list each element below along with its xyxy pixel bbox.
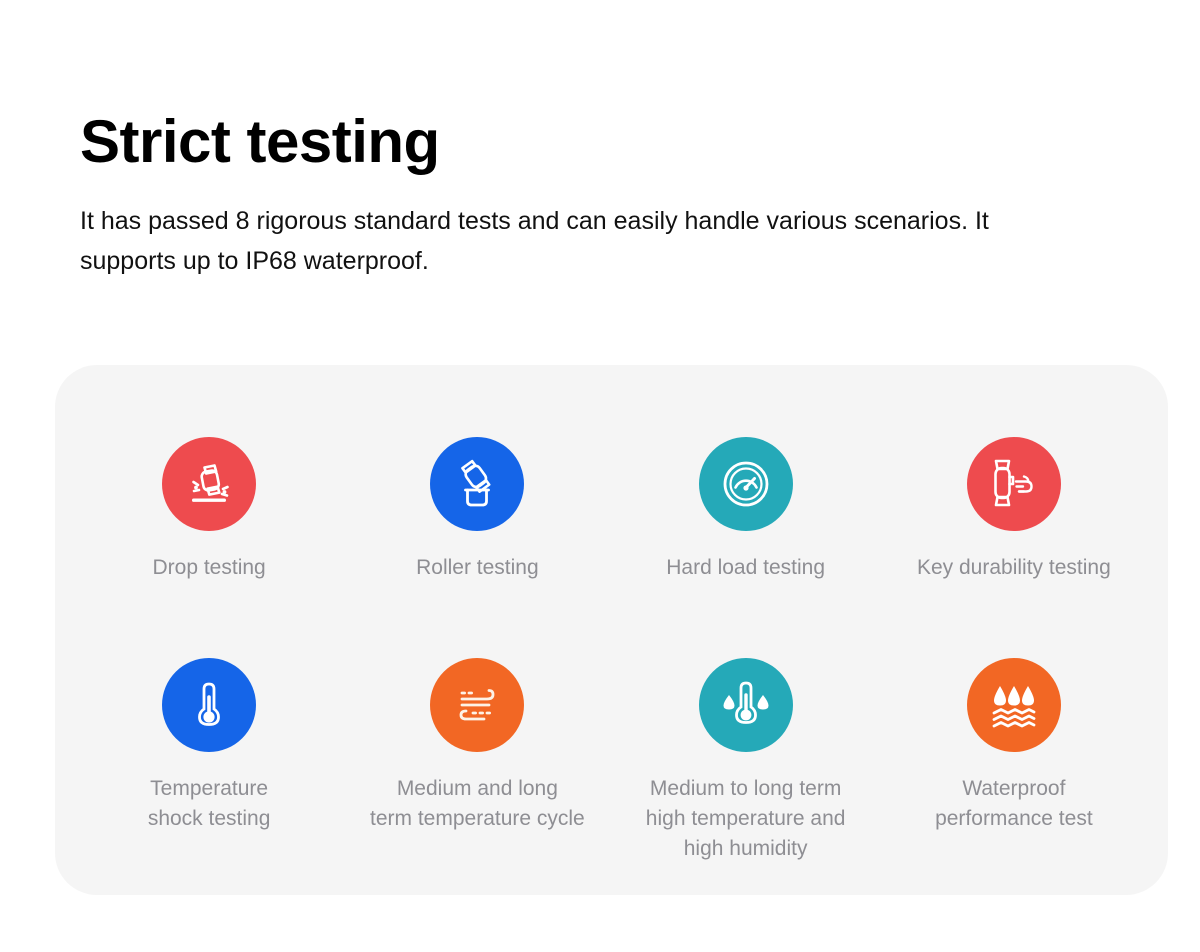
- hard-load-testing-icon-badge: [699, 437, 793, 531]
- test-item-label: Hard load testing: [666, 553, 825, 583]
- temperature-cycle-icon-badge: [430, 658, 524, 752]
- roller-testing-icon-badge: [430, 437, 524, 531]
- heading-block: Strict testing It has passed 8 rigorous …: [80, 110, 1120, 281]
- test-item-label: Waterproof performance test: [935, 774, 1093, 834]
- test-item-key-durability-testing[interactable]: Key durability testing: [880, 437, 1148, 644]
- test-item-label: Key durability testing: [917, 553, 1111, 583]
- page-title: Strict testing: [80, 110, 1120, 175]
- page-subtitle: It has passed 8 rigorous standard tests …: [80, 201, 1020, 281]
- test-item-temperature-shock-testing[interactable]: Temperature shock testing: [75, 658, 343, 865]
- test-item-label: Temperature shock testing: [148, 774, 271, 834]
- waterproof-icon-badge: [967, 658, 1061, 752]
- water-droplets-waves-icon: [983, 674, 1045, 736]
- wind-airflow-icon: [446, 674, 508, 736]
- drop-testing-icon-badge: [162, 437, 256, 531]
- strict-testing-page: Strict testing It has passed 8 rigorous …: [0, 0, 1200, 952]
- gauge-icon: [715, 453, 777, 515]
- test-item-label: Roller testing: [416, 553, 539, 583]
- watch-tumbler-icon: [447, 454, 507, 514]
- test-item-label: Medium and long term temperature cycle: [370, 774, 585, 834]
- key-durability-icon-badge: [967, 437, 1061, 531]
- test-item-label: Drop testing: [153, 553, 266, 583]
- thermometer-humidity-icon: [715, 674, 777, 736]
- test-item-roller-testing[interactable]: Roller testing: [343, 437, 611, 644]
- test-item-label: Medium to long term high temperature and…: [646, 774, 846, 864]
- test-item-high-temp-humidity[interactable]: Medium to long term high temperature and…: [612, 658, 880, 865]
- high-temp-humidity-icon-badge: [699, 658, 793, 752]
- test-item-waterproof[interactable]: Waterproof performance test: [880, 658, 1148, 865]
- test-list-card: Drop testing: [55, 365, 1168, 895]
- test-item-hard-load-testing[interactable]: Hard load testing: [612, 437, 880, 644]
- test-grid: Drop testing: [55, 365, 1168, 895]
- test-item-temperature-cycle[interactable]: Medium and long term temperature cycle: [343, 658, 611, 865]
- temperature-shock-icon-badge: [162, 658, 256, 752]
- thermometer-icon: [181, 677, 237, 733]
- test-item-drop-testing[interactable]: Drop testing: [75, 437, 343, 644]
- watch-button-press-icon: [983, 453, 1045, 515]
- watch-drop-icon: [179, 454, 239, 514]
